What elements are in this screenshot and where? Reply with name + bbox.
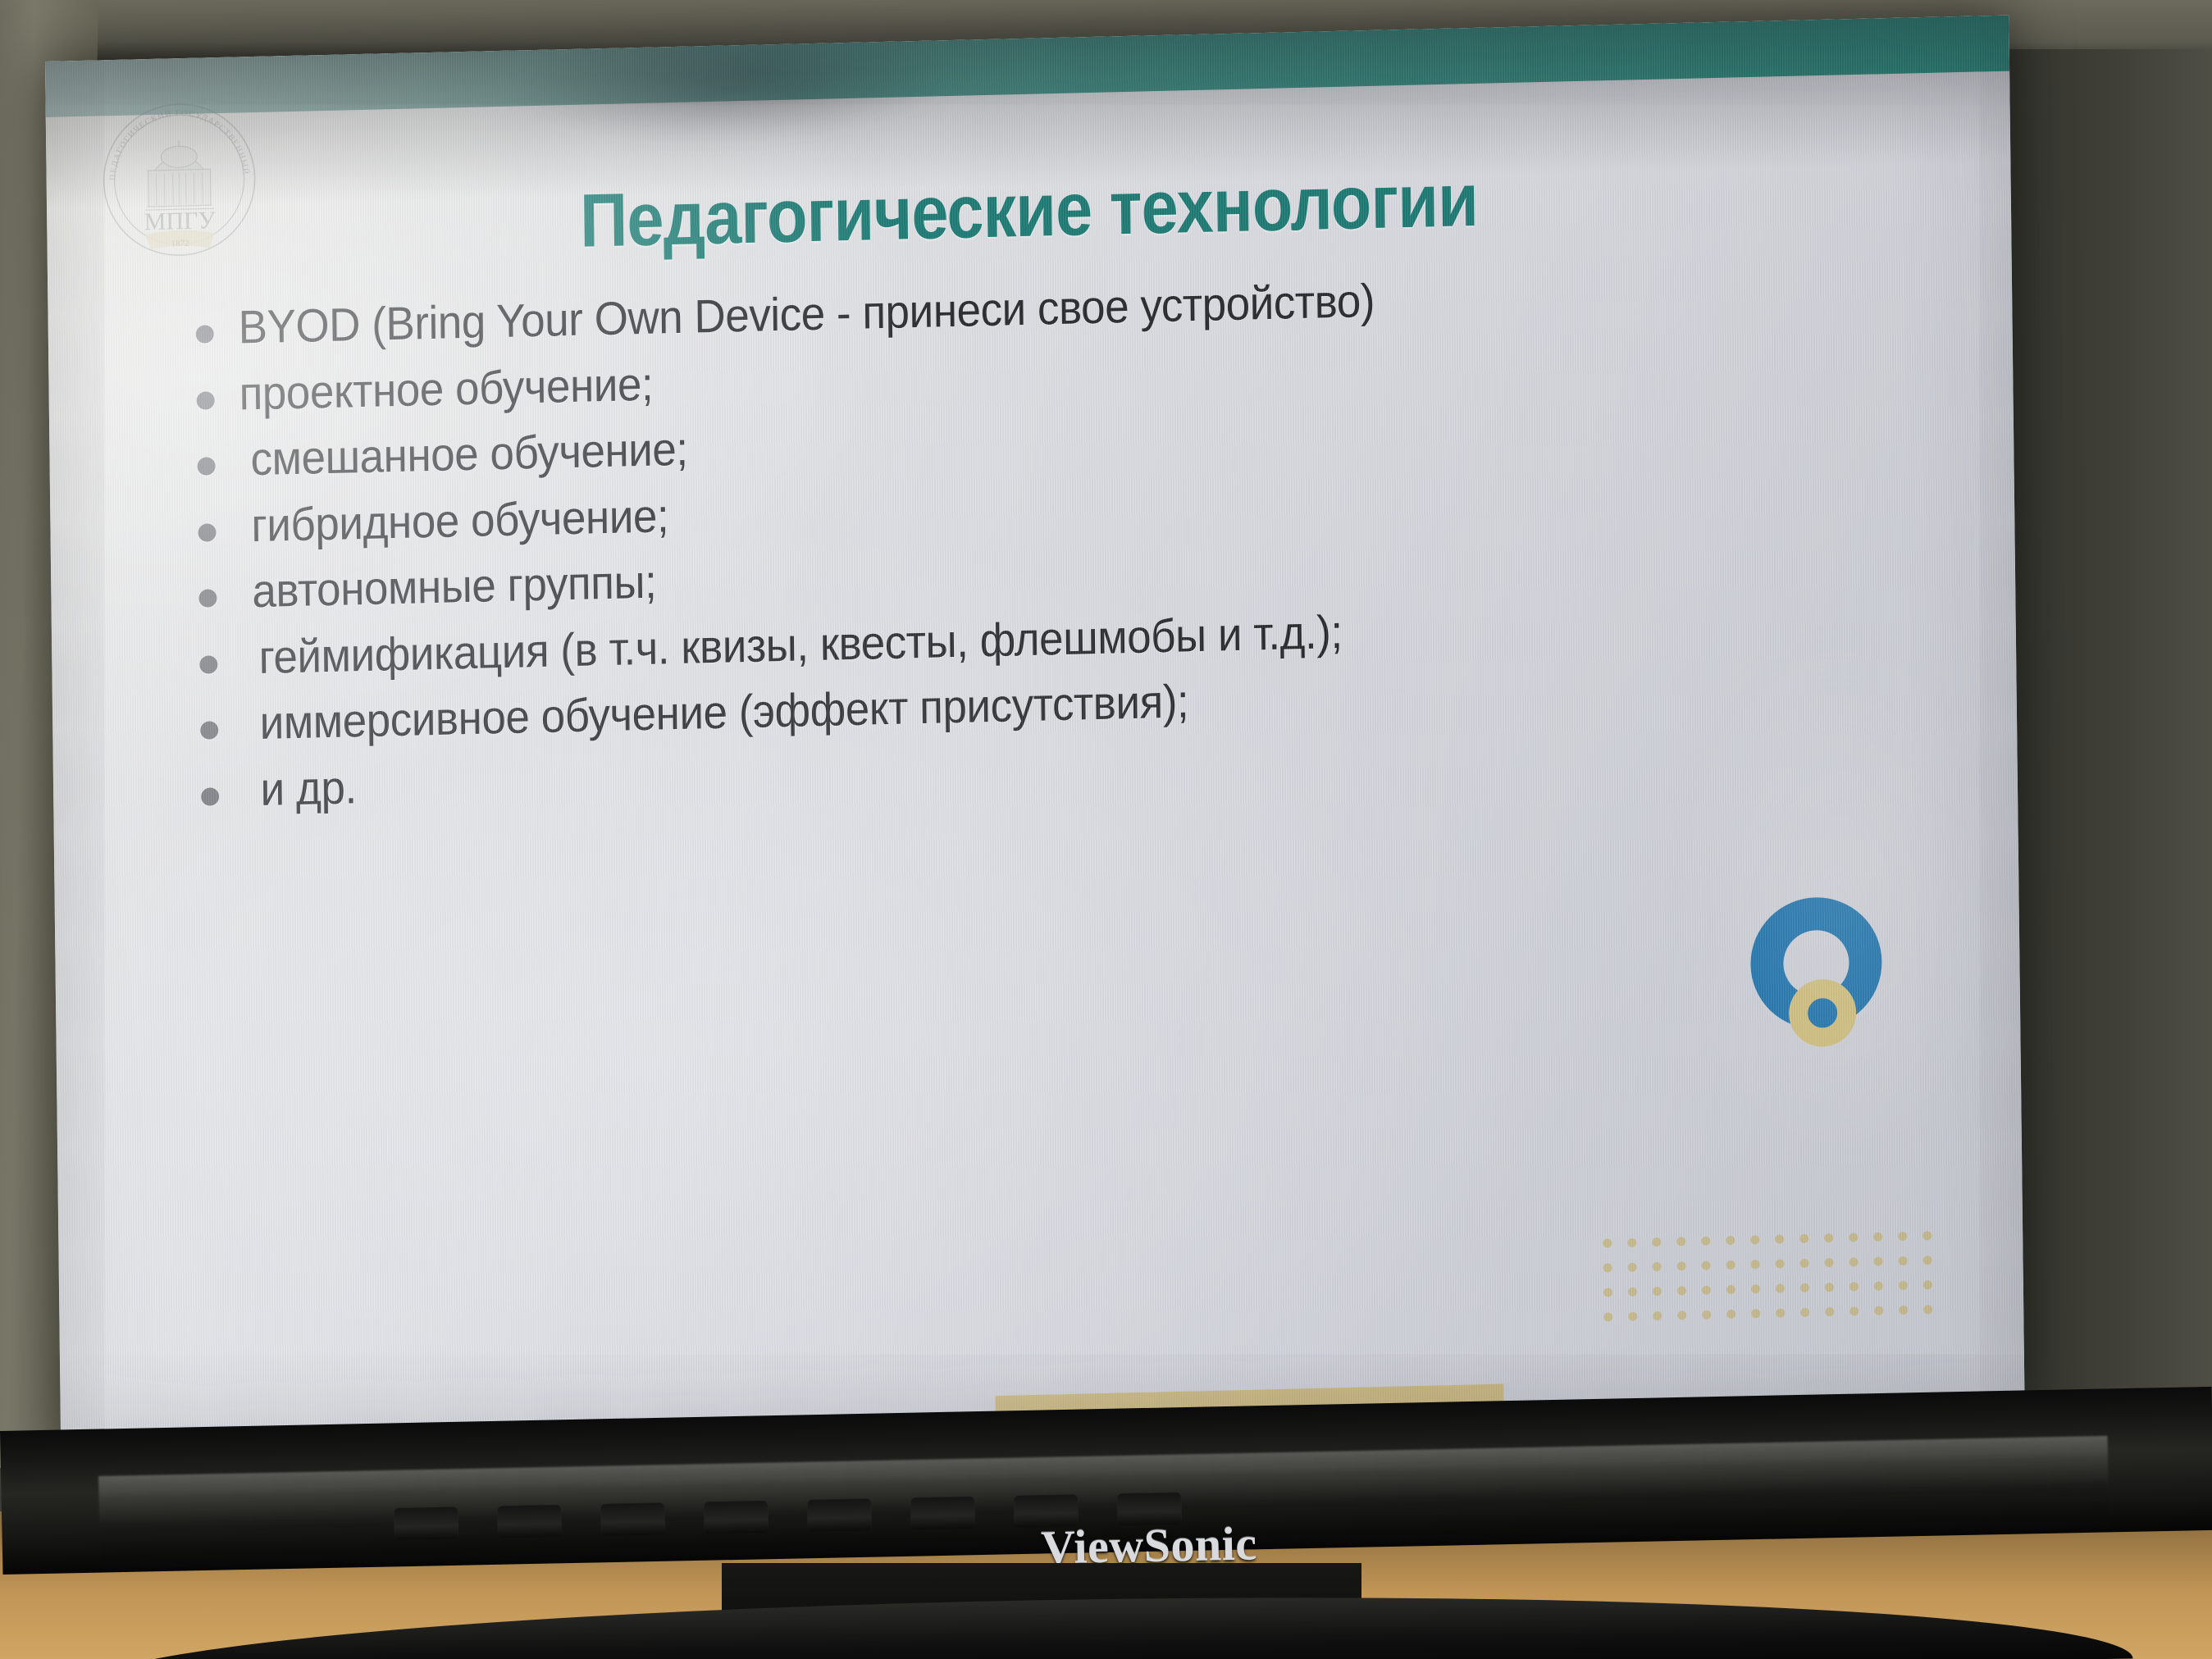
dot-icon bbox=[1799, 1234, 1808, 1243]
bullet-dot-icon bbox=[201, 787, 219, 806]
bullet-dot-icon bbox=[197, 391, 215, 410]
bullet-dot-icon bbox=[199, 655, 217, 674]
monitor-screen: МОСКОВСКИЙ ПЕДАГОГИЧЕСКИЙ ГОСУДАРСТВЕННЫ… bbox=[45, 16, 2025, 1456]
dot-icon bbox=[1849, 1306, 1859, 1315]
dot-icon bbox=[1825, 1283, 1834, 1292]
osd-button-6[interactable] bbox=[910, 1496, 975, 1530]
dot-icon bbox=[1922, 1231, 1932, 1240]
dot-icon bbox=[1874, 1306, 1883, 1315]
dot-icon bbox=[1849, 1257, 1859, 1266]
dot-icon bbox=[1726, 1310, 1735, 1319]
dot-icon bbox=[1775, 1234, 1784, 1243]
dot-icon bbox=[1726, 1285, 1735, 1294]
dot-icon bbox=[1702, 1261, 1711, 1270]
dot-icon bbox=[1849, 1282, 1859, 1291]
ring-gold-icon bbox=[1789, 978, 1857, 1047]
dot-icon bbox=[1825, 1258, 1834, 1267]
dot-icon bbox=[1677, 1286, 1686, 1295]
osd-button-3[interactable] bbox=[600, 1502, 665, 1536]
osd-button-5[interactable] bbox=[807, 1497, 872, 1532]
slide-title: Педагогические технологии bbox=[164, 151, 1893, 271]
dot-icon bbox=[1702, 1286, 1711, 1295]
dot-icon bbox=[1899, 1306, 1908, 1315]
rings-decoration-icon bbox=[1750, 896, 1916, 1055]
dot-icon bbox=[1751, 1284, 1760, 1293]
osd-button-1[interactable] bbox=[394, 1506, 458, 1540]
dot-icon bbox=[1899, 1256, 1908, 1265]
dot-icon bbox=[1726, 1236, 1735, 1245]
dot-icon bbox=[1603, 1263, 1612, 1272]
list-item-label: смешанное обучение; bbox=[239, 425, 688, 485]
dot-icon bbox=[1603, 1312, 1612, 1321]
dot-icon bbox=[1776, 1283, 1785, 1292]
list-item-label: иммерсивное обучение (эффект присутствия… bbox=[243, 677, 1189, 750]
dot-icon bbox=[1776, 1259, 1785, 1268]
dot-icon bbox=[1751, 1309, 1760, 1318]
bullet-dot-icon bbox=[200, 722, 218, 741]
dot-icon bbox=[1800, 1308, 1809, 1317]
dot-icon bbox=[1677, 1310, 1686, 1319]
dot-icon bbox=[1603, 1288, 1612, 1297]
dot-icon bbox=[1776, 1308, 1785, 1317]
dot-icon bbox=[1627, 1238, 1636, 1247]
dot-icon bbox=[1923, 1256, 1932, 1265]
list-item-label: проектное обучение; bbox=[239, 359, 653, 419]
dot-icon bbox=[1750, 1235, 1759, 1244]
dot-icon bbox=[1874, 1282, 1883, 1291]
dot-icon bbox=[1899, 1281, 1908, 1290]
dot-icon bbox=[1628, 1312, 1637, 1321]
dot-icon bbox=[1653, 1262, 1662, 1271]
dot-icon bbox=[1653, 1311, 1662, 1320]
dot-icon bbox=[1653, 1287, 1662, 1296]
bullet-dot-icon bbox=[197, 457, 215, 476]
bullet-dot-icon bbox=[198, 589, 217, 608]
dot-icon bbox=[1849, 1233, 1858, 1242]
dot-icon bbox=[1751, 1260, 1760, 1269]
dot-icon bbox=[1652, 1237, 1661, 1247]
dot-icon bbox=[1726, 1260, 1735, 1269]
dot-icon bbox=[1874, 1257, 1883, 1266]
dot-icon bbox=[1701, 1237, 1710, 1246]
dot-icon bbox=[1677, 1261, 1686, 1270]
bullet-dot-icon bbox=[198, 523, 216, 542]
dot-icon bbox=[1800, 1283, 1809, 1292]
osd-button-2[interactable] bbox=[497, 1504, 562, 1538]
dot-grid-decoration bbox=[1603, 1231, 1948, 1338]
list-item-label: гибридное обучение; bbox=[240, 491, 668, 552]
dot-icon bbox=[1603, 1238, 1612, 1247]
list-item-label: автономные группы; bbox=[241, 558, 657, 618]
list-item-label: BYOD (Bring Your Own Device - принеси св… bbox=[238, 276, 1375, 353]
bullet-list: BYOD (Bring Your Own Device - принеси св… bbox=[195, 262, 1968, 832]
dot-icon bbox=[1702, 1310, 1711, 1319]
list-item-label: геймификация (в т.ч. квизы, квесты, флеш… bbox=[242, 608, 1343, 684]
dot-icon bbox=[1825, 1307, 1834, 1316]
dot-icon bbox=[1628, 1288, 1637, 1297]
dot-icon bbox=[1676, 1237, 1685, 1246]
monitor-photo: МОСКОВСКИЙ ПЕДАГОГИЧЕСКИЙ ГОСУДАРСТВЕННЫ… bbox=[0, 0, 2212, 1659]
dot-icon bbox=[1824, 1233, 1833, 1242]
bullet-dot-icon bbox=[196, 325, 214, 344]
dot-icon bbox=[1923, 1280, 1932, 1289]
dot-icon bbox=[1873, 1233, 1882, 1242]
dot-icon bbox=[1628, 1263, 1637, 1272]
dot-icon bbox=[1923, 1305, 1932, 1314]
presentation-slide: МОСКОВСКИЙ ПЕДАГОГИЧЕСКИЙ ГОСУДАРСТВЕННЫ… bbox=[45, 16, 2025, 1456]
list-item-label: и др. bbox=[244, 763, 357, 816]
osd-button-4[interactable] bbox=[704, 1500, 768, 1534]
dot-icon bbox=[1898, 1232, 1907, 1241]
viewsonic-monitor: МОСКОВСКИЙ ПЕДАГОГИЧЕСКИЙ ГОСУДАРСТВЕННЫ… bbox=[0, 0, 2212, 1558]
dot-icon bbox=[1800, 1259, 1809, 1268]
